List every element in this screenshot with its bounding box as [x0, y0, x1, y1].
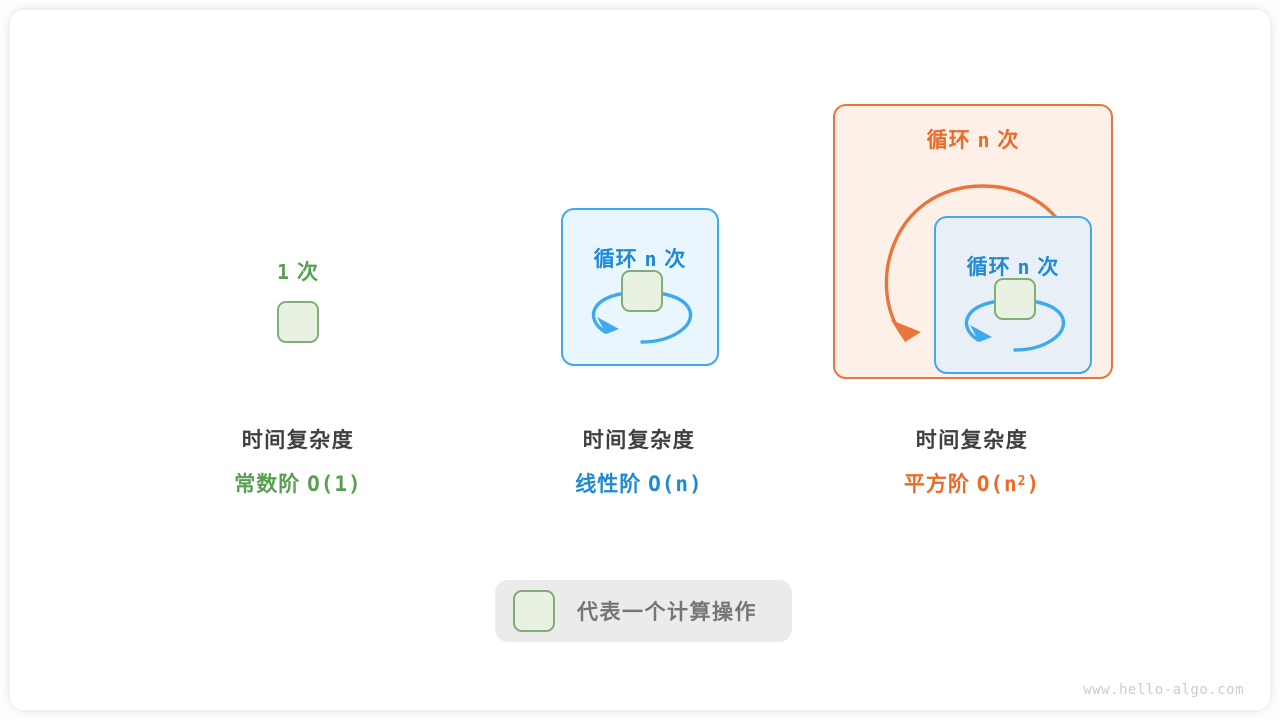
constant-order-name: 常数阶: [234, 473, 300, 496]
linear-loop-box: 循环 n 次: [561, 208, 719, 366]
linear-caption-title: 时间复杂度: [489, 424, 789, 454]
constant-count-unit: 次: [297, 261, 319, 284]
quadratic-order-name: 平方阶: [904, 473, 970, 496]
diagram-canvas: 1 次 时间复杂度 常数阶 O(1) 循环 n 次 时间复杂度 线性阶: [0, 0, 1280, 720]
quadratic-notation-base: O(n: [977, 472, 1018, 496]
quadratic-inner-loop-suffix: 次: [1037, 256, 1059, 279]
operation-square: [621, 270, 663, 312]
quadratic-caption-title: 时间复杂度: [822, 424, 1122, 454]
quadratic-outer-loop-label: 循环 n 次: [835, 124, 1111, 154]
constant-count-value: 1: [277, 260, 290, 284]
quadratic-inner-loop-label: 循环 n 次: [936, 251, 1090, 281]
watermark: www.hello-algo.com: [1083, 682, 1244, 698]
constant-caption-value: 常数阶 O(1): [148, 468, 448, 498]
quadratic-order-notation: O(n2): [977, 472, 1040, 496]
quadratic-inner-loop-prefix: 循环: [967, 256, 1011, 279]
quadratic-notation-close: ): [1026, 472, 1040, 496]
quadratic-outer-loop-variable: n: [977, 128, 990, 152]
panel-constant: 1 次 时间复杂度 常数阶 O(1): [148, 0, 448, 720]
legend-label: 代表一个计算操作: [577, 596, 757, 626]
linear-loop-variable: n: [644, 247, 657, 271]
quadratic-outer-loop-prefix: 循环: [927, 129, 971, 152]
linear-order-name: 线性阶: [575, 473, 641, 496]
panel-quadratic: 循环 n 次 循环 n 次 时间复杂度: [822, 0, 1122, 720]
quadratic-outer-loop-suffix: 次: [997, 129, 1019, 152]
linear-loop-suffix: 次: [664, 248, 686, 271]
linear-caption-value: 线性阶 O(n): [489, 468, 789, 498]
quadratic-inner-loop-box: 循环 n 次: [934, 216, 1092, 374]
constant-order-notation: O(1): [307, 472, 362, 496]
legend: 代表一个计算操作: [495, 580, 792, 642]
linear-loop-label: 循环 n 次: [563, 243, 717, 273]
legend-operation-square-icon: [513, 590, 555, 632]
quadratic-outer-loop-box: 循环 n 次 循环 n 次: [833, 104, 1113, 379]
operation-square: [994, 278, 1036, 320]
quadratic-inner-loop-variable: n: [1017, 255, 1030, 279]
linear-loop-prefix: 循环: [594, 248, 638, 271]
constant-caption-title: 时间复杂度: [148, 424, 448, 454]
operation-square: [277, 301, 319, 343]
constant-count-label: 1 次: [148, 256, 448, 286]
quadratic-caption-value: 平方阶 O(n2): [822, 468, 1122, 498]
linear-order-notation: O(n): [648, 472, 703, 496]
